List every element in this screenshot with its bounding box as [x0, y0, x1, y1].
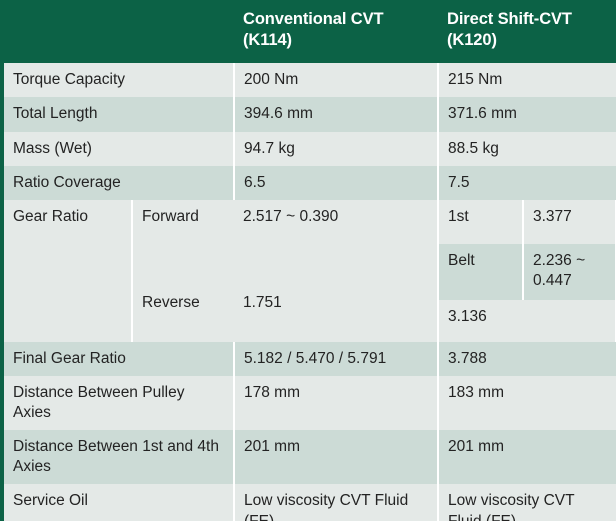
table-header: Conventional CVT (K114) Direct Shift-CVT… — [4, 0, 616, 63]
header-cell-conventional-cvt: Conventional CVT (K114) — [234, 0, 438, 63]
gear-ratio-conventional-values: 2.517 ~ 0.390 1.751 — [234, 200, 437, 328]
gear-ratio-conventional-reverse-row: 1.751 — [234, 286, 437, 328]
cell-mass-wet-direct-shift: 88.5 kg — [438, 132, 616, 166]
cell-distance-1st-4th-axies-conventional: 201 mm — [234, 430, 438, 484]
cell-final-gear-ratio-conventional: 5.182 / 5.470 / 5.791 — [234, 342, 438, 376]
header-direct-shift-line1: Direct Shift-CVT — [447, 10, 572, 28]
cell-gear-ratio-1st-label: 1st — [439, 200, 523, 244]
cell-gear-ratio-belt-label: Belt — [439, 244, 523, 300]
table-header-row: Conventional CVT (K114) Direct Shift-CVT… — [4, 0, 616, 63]
cell-mass-wet-conventional: 94.7 kg — [234, 132, 438, 166]
gear-ratio-sub-reverse: Reverse — [133, 286, 234, 328]
table-row: Final Gear Ratio 5.182 / 5.470 / 5.791 3… — [4, 342, 616, 376]
header-cell-direct-shift-cvt: Direct Shift-CVT (K120) — [438, 0, 616, 63]
gear-ratio-direct-shift-container: 1st 3.377 Belt 2.236 ~ 0.447 3.136 — [438, 200, 616, 342]
cell-distance-1st-4th-axies-direct-shift: 201 mm — [438, 430, 616, 484]
gear-ratio-sub-forward: Forward — [133, 200, 234, 286]
cell-gear-ratio-belt-value: 2.236 ~ 0.447 — [523, 244, 616, 300]
cell-total-length-direct-shift: 371.6 mm — [438, 97, 616, 131]
table-row: Service Oil Low viscosity CVT Fluid (FE)… — [4, 484, 616, 521]
cell-ratio-coverage-direct-shift: 7.5 — [438, 166, 616, 200]
table-row-gear-ratio: Gear Ratio Forward Reverse 2.517 — [4, 200, 616, 342]
row-label-final-gear-ratio: Final Gear Ratio — [4, 342, 234, 376]
cell-gear-ratio-reverse-conventional: 1.751 — [234, 286, 437, 328]
cell-torque-capacity-conventional: 200 Nm — [234, 63, 438, 97]
row-label-service-oil: Service Oil — [4, 484, 234, 521]
header-conventional-line1: Conventional CVT — [243, 10, 384, 28]
gear-ratio-direct-shift-reverse-row: 3.136 — [439, 300, 616, 342]
cell-gear-ratio-forward-conventional: 2.517 ~ 0.390 — [234, 200, 437, 286]
cell-distance-pulley-axies-direct-shift: 183 mm — [438, 376, 616, 430]
gear-ratio-reverse-label-row: Reverse — [133, 286, 234, 328]
cell-gear-ratio-1st-value: 3.377 — [523, 200, 616, 244]
row-label-ratio-coverage: Ratio Coverage — [4, 166, 234, 200]
cell-service-oil-direct-shift: Low viscosity CVT Fluid (FE) — [438, 484, 616, 521]
cell-torque-capacity-direct-shift: 215 Nm — [438, 63, 616, 97]
row-label-gear-ratio: Gear Ratio — [4, 200, 132, 342]
gear-ratio-direct-shift-1st-row: 1st 3.377 — [439, 200, 616, 244]
row-label-distance-1st-4th-axies: Distance Between 1st and 4th Axies — [4, 430, 234, 484]
spec-comparison-table-container: Conventional CVT (K114) Direct Shift-CVT… — [0, 0, 616, 521]
row-label-mass-wet: Mass (Wet) — [4, 132, 234, 166]
table-row: Torque Capacity 200 Nm 215 Nm — [4, 63, 616, 97]
table-row: Total Length 394.6 mm 371.6 mm — [4, 97, 616, 131]
cell-total-length-conventional: 394.6 mm — [234, 97, 438, 131]
table-row: Mass (Wet) 94.7 kg 88.5 kg — [4, 132, 616, 166]
row-label-torque-capacity: Torque Capacity — [4, 63, 234, 97]
cell-distance-pulley-axies-conventional: 178 mm — [234, 376, 438, 430]
header-conventional-line2: (K114) — [243, 31, 292, 49]
cell-service-oil-conventional: Low viscosity CVT Fluid (FE) — [234, 484, 438, 521]
table-row: Distance Between 1st and 4th Axies 201 m… — [4, 430, 616, 484]
header-cell-spec-label — [4, 0, 234, 63]
table-row: Distance Between Pulley Axies 178 mm 183… — [4, 376, 616, 430]
header-direct-shift-line2: (K120) — [447, 31, 497, 49]
table-row: Ratio Coverage 6.5 7.5 — [4, 166, 616, 200]
row-label-total-length: Total Length — [4, 97, 234, 131]
cvt-specification-table: Conventional CVT (K114) Direct Shift-CVT… — [4, 0, 616, 521]
gear-ratio-direct-shift-values: 1st 3.377 Belt 2.236 ~ 0.447 3.136 — [439, 200, 616, 342]
gear-ratio-subcolumn-container: Forward Reverse — [132, 200, 234, 342]
table-body: Torque Capacity 200 Nm 215 Nm Total Leng… — [4, 63, 616, 521]
cell-final-gear-ratio-direct-shift: 3.788 — [438, 342, 616, 376]
gear-ratio-forward-label-row: Forward — [133, 200, 234, 286]
gear-ratio-sub-labels: Forward Reverse — [133, 200, 234, 328]
row-label-distance-pulley-axies: Distance Between Pulley Axies — [4, 376, 234, 430]
gear-ratio-conventional-forward-row: 2.517 ~ 0.390 — [234, 200, 437, 286]
gear-ratio-direct-shift-belt-row: Belt 2.236 ~ 0.447 — [439, 244, 616, 300]
cell-gear-ratio-reverse-direct-shift: 3.136 — [439, 300, 616, 342]
cell-ratio-coverage-conventional: 6.5 — [234, 166, 438, 200]
gear-ratio-conventional-container: 2.517 ~ 0.390 1.751 — [234, 200, 438, 342]
